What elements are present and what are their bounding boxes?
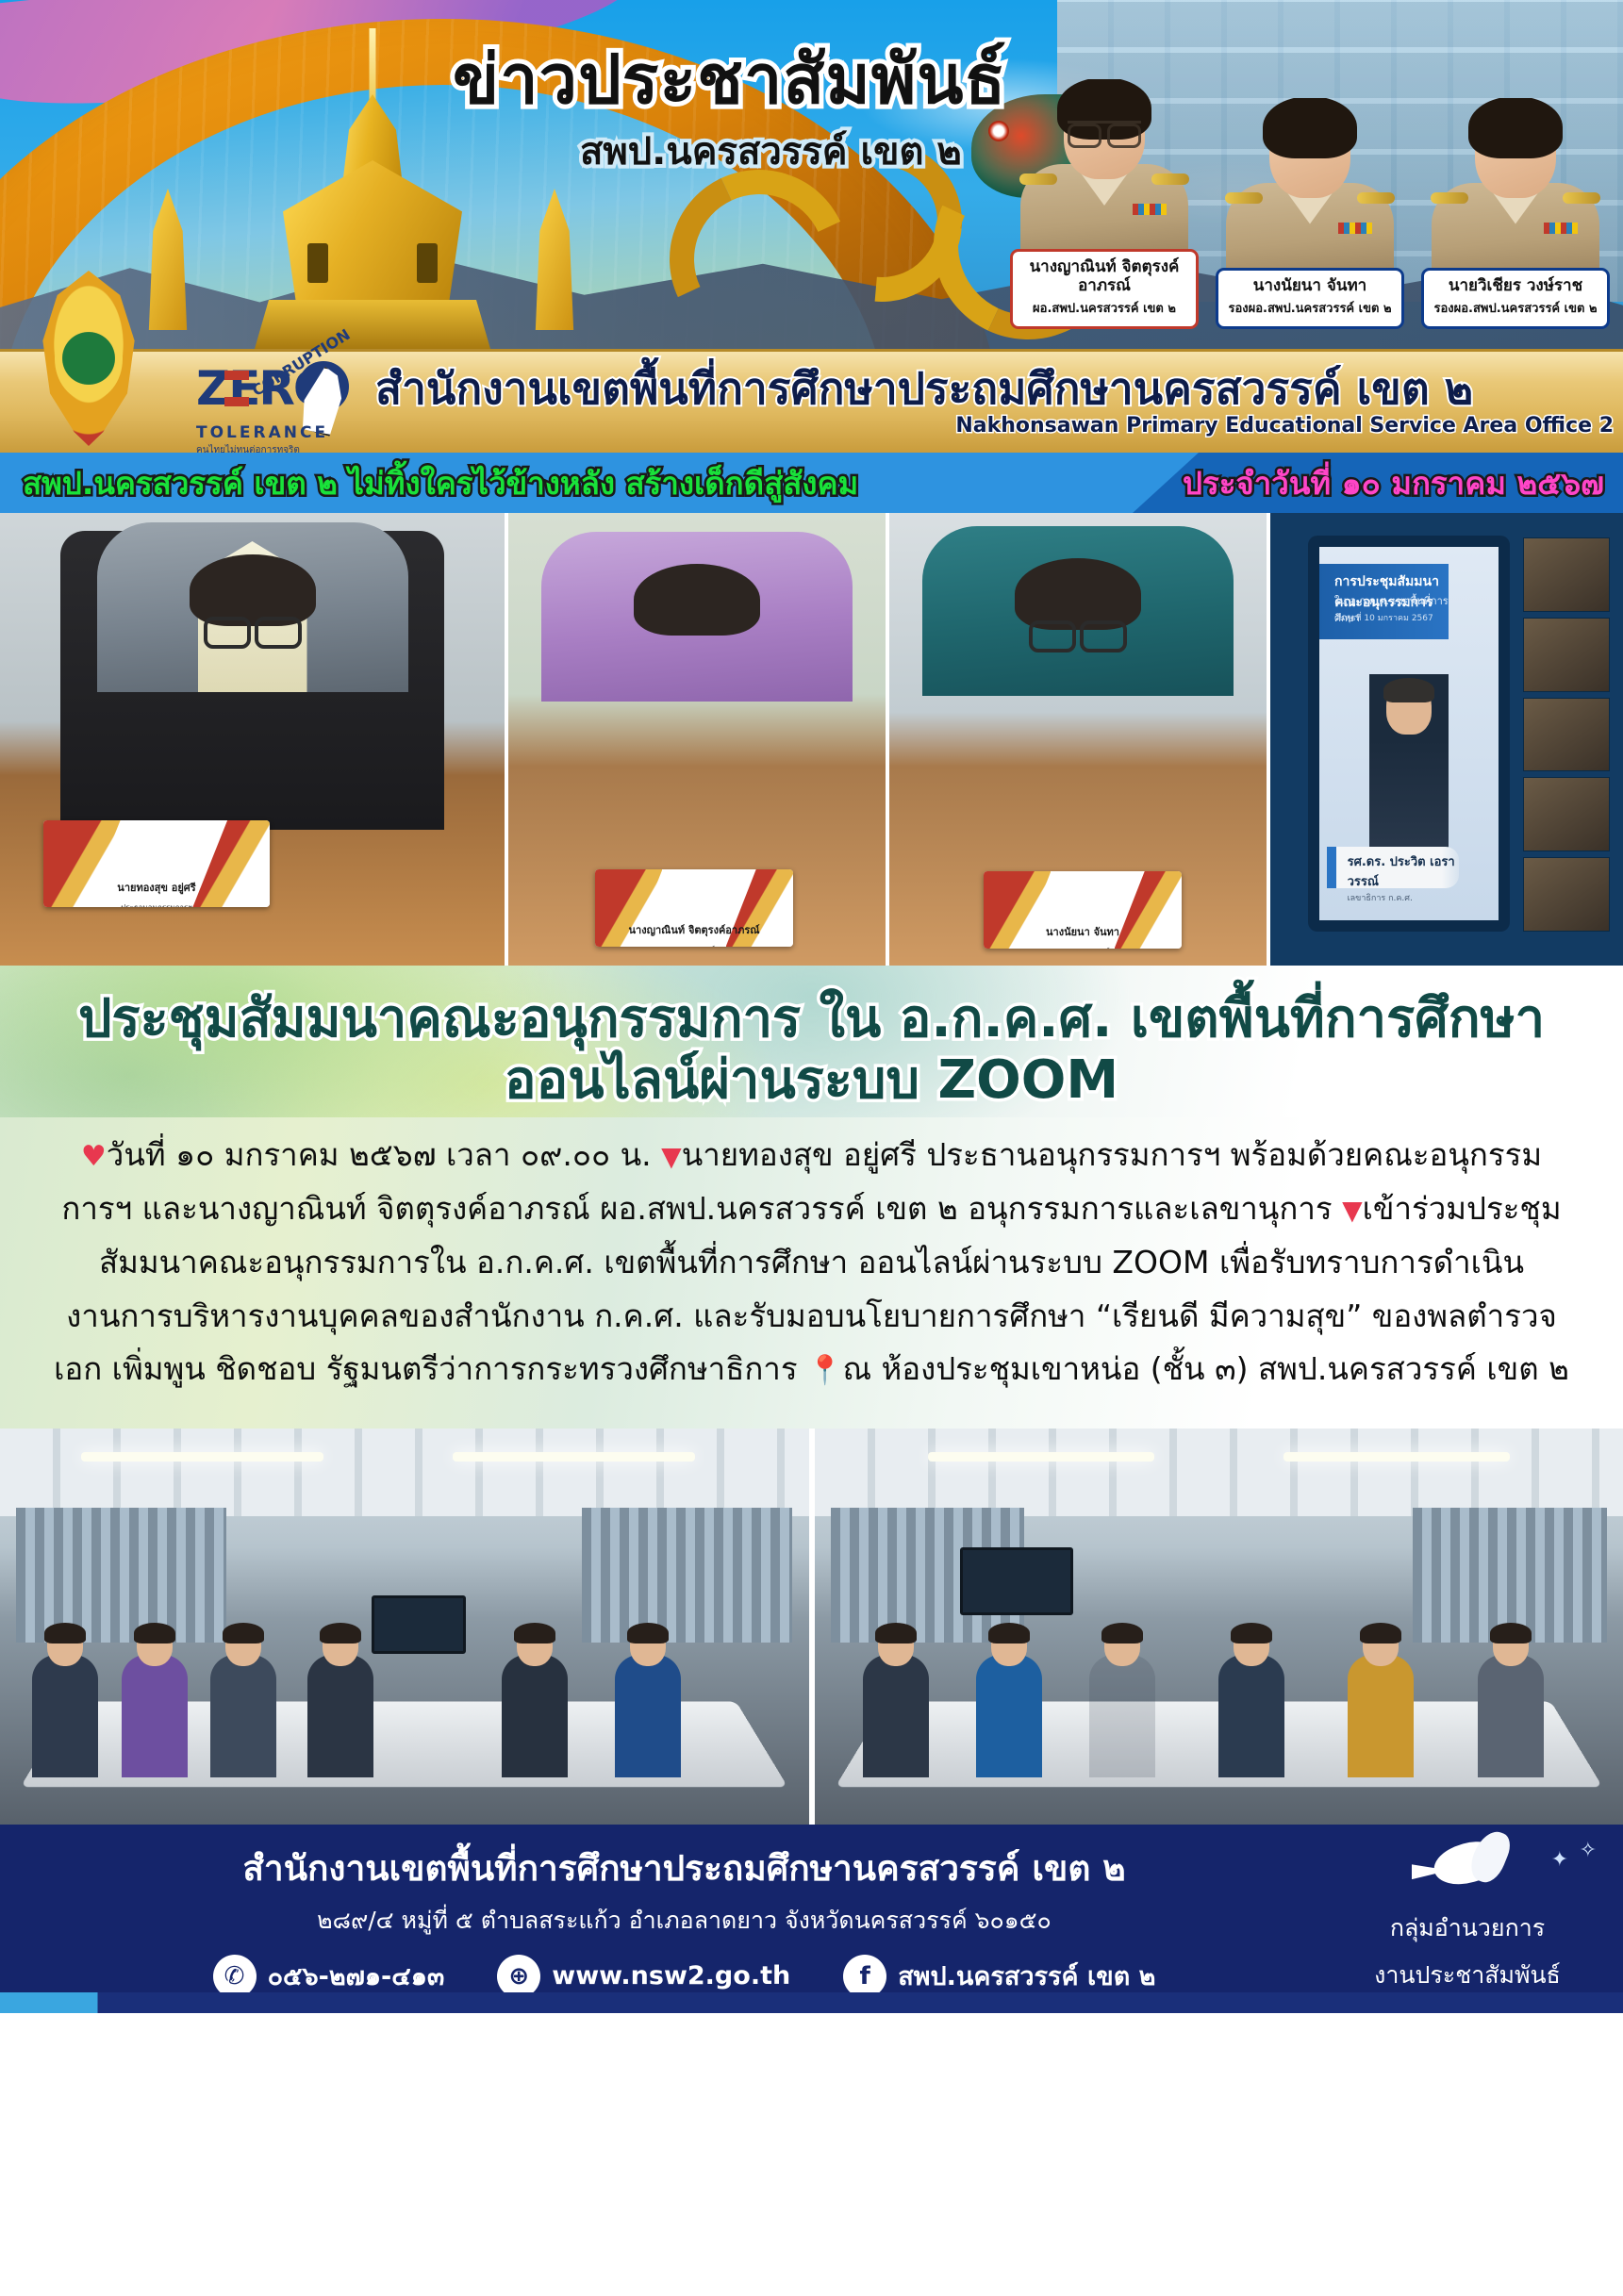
speaker-video-tile [1369,674,1449,868]
triangle-icon: ▼ [661,1134,682,1180]
desk-nameplate-chairman: นายทองสุข อยู่ศรี ประธานอนุกรรมการฯ [43,820,270,907]
attendee-hair [1101,1623,1143,1644]
attendee [307,1655,373,1777]
attendee-hair [514,1623,555,1644]
attendee-hair [134,1623,175,1644]
attendee [615,1655,681,1777]
officer-epaulette-right-2 [1357,192,1395,204]
organization-name-english: Nakhonsawan Primary Educational Service … [375,414,1623,438]
officer-name-1: นางญาณินท์ จิตตุรงค์อาภรณ์ [1018,258,1191,295]
poster-root: ข่าวประชาสัมพันธ์ สพป.นครสวรรค์ เขต ๒ นา… [0,0,1623,2296]
officer-ribbon-3 [1544,223,1578,234]
director-hair [634,564,760,636]
footer: สำนักงานเขตพื้นที่การศึกษาประถมศึกษานครส… [0,1825,1623,2013]
speaker-lower-third: รศ.ดร. ประวิต เอราวรรณ์ เลขาธิการ ก.ค.ศ. [1327,847,1460,888]
location-pin-icon: 📍 [807,1346,842,1396]
thumbnail-2 [1523,618,1610,692]
officer-role-1: ผอ.สพป.นครสวรรค์ เขต ๒ [1018,298,1191,318]
footer-contacts: ✆ ๐๕๖-๒๗๑-๔๑๓ ⊕ www.nsw2.go.th f สพป.นคร… [57,1955,1312,1998]
footer-group-1: กลุ่มอำนวยการ [1312,1909,1623,1947]
officer-epaulette-left-3 [1431,192,1468,204]
officer-hair-2 [1263,98,1357,158]
attendee [1218,1655,1284,1777]
attendee-hair [875,1623,917,1644]
attendee [502,1655,568,1777]
officer-epaulette-right-3 [1563,192,1600,204]
footer-bottom-accent-bar [0,1992,1623,2013]
officer-name-2: นางนัยนา จันทา [1223,277,1397,296]
officer-role-2: รองผอ.สพป.นครสวรรค์ เขต ๒ [1223,298,1397,318]
officer-nameplate-2: นางนัยนา จันทา รองผอ.สพป.นครสวรรค์ เขต ๒ [1216,268,1404,330]
wall-monitor-right [960,1547,1073,1615]
organization-names: สำนักงานเขตพื้นที่การศึกษาประถมศึกษานครส… [375,367,1623,438]
display-screen: การประชุมสัมมนาคณะอนุกรรมการ ใน อ.ก.ค.ศ.… [1308,536,1510,932]
footer-main: สำนักงานเขตพื้นที่การศึกษาประถมศึกษานครส… [0,1841,1312,1998]
slogan-bar: สพป.นครสวรรค์ เขต ๒ ไม่ทิ้งใครไว้ข้างหลั… [0,453,1623,513]
photo-meeting-room-left [0,1429,809,1825]
attendee [1478,1655,1544,1777]
sparkle-icon-1: ✦ [1551,1847,1568,1872]
attendee [1089,1655,1155,1777]
page-subtitle: สพป.นครสวรรค์ เขต ๒ [580,121,962,181]
officer-card-2: นางนัยนา จันทา รองผอ.สพป.นครสวรรค์ เขต ๒ [1216,98,1404,330]
footer-organization: สำนักงานเขตพื้นที่การศึกษาประถมศึกษานครส… [57,1841,1312,1896]
website-url: www.nsw2.go.th [552,1961,790,1990]
headline-line-1: ประชุมสัมมนาคณะอนุกรรมการ ใน อ.ก.ค.ศ. เข… [0,990,1623,1049]
zero-logo-bar-2 [224,397,249,406]
dove-icon: ✦ ✧ [1312,1843,1623,1909]
officer-epaulette-left-2 [1225,192,1263,204]
thumbnail-1 [1523,537,1610,612]
speaker-name: รศ.ดร. ประวิต เอราวรรณ์ [1348,851,1460,891]
desk-nameplate-name: นางนัยนา จันทา [984,923,1182,940]
desk-nameplate-name: นายทองสุข อยู่ศรี [43,879,270,896]
sparkle-icon-2: ✧ [1580,1838,1597,1862]
phone-icon: ✆ [213,1955,257,1998]
slide-header-bar: การประชุมสัมมนาคณะอนุกรรมการ ใน อ.ก.ค.ศ.… [1319,564,1449,639]
ceiling-light-1 [81,1452,323,1462]
officer-hair-3 [1468,98,1563,158]
officer-card-3: นายวิเชียร วงษ์ราช รองผอ.สพป.นครสวรรค์ เ… [1421,98,1610,330]
window-blinds-right [582,1508,792,1643]
photo-thumbnail-strip [1523,537,1610,932]
attendee-hair [1231,1623,1272,1644]
heart-icon: ♥ [81,1132,107,1181]
footer-group-2: งานประชาสัมพันธ์ [1312,1957,1623,1994]
thumbnail-3 [1523,698,1610,772]
attendee [976,1655,1042,1777]
pagoda-body [283,160,462,311]
headline-section: ประชุมสัมมนาคณะอนุกรรมการ ใน อ.ก.ค.ศ. เข… [0,966,1623,1117]
officer-epaulette-right-1 [1151,173,1189,185]
contact-website[interactable]: ⊕ www.nsw2.go.th [497,1955,790,1998]
officer-nameplate-1: นางญาณินท์ จิตตุรงค์อาภรณ์ ผอ.สพป.นครสวร… [1010,249,1199,329]
garuda-emblem-icon [28,271,149,446]
officer-photo-2 [1216,98,1404,277]
desk-nameplate-role: รองผอ.สพป.นครสวรรค์ เขต ๒ [984,946,1182,949]
deputy-figure [1021,564,1134,696]
chairman-hair [190,554,316,626]
garuda-inner [55,316,123,400]
slogan-text: สพป.นครสวรรค์ เขต ๒ ไม่ทิ้งใครไว้ข้างหลั… [23,458,858,508]
article-datetime: วันที่ ๑๐ มกราคม ๒๕๖๗ เวลา ๐๙.๐๐ น. [107,1136,652,1173]
photo-zoom-screen: การประชุมสัมมนาคณะอนุกรรมการ ใน อ.ก.ค.ศ.… [1270,513,1623,966]
attendee-hair [223,1623,264,1644]
officer-ribbon-2 [1338,223,1372,234]
ceiling-left [0,1429,809,1515]
article-body: ♥วันที่ ๑๐ มกราคม ๒๕๖๗ เวลา ๐๙.๐๐ น. ▼นา… [0,1117,1623,1429]
officer-role-3: รองผอ.สพป.นครสวรรค์ เขต ๒ [1429,298,1602,318]
slide-date: วันพุธที่ 10 มกราคม 2567 [1334,611,1433,624]
wall-monitor-left [372,1595,466,1654]
attendee-hair [320,1623,361,1644]
globe-icon: ⊕ [497,1955,540,1998]
attendee [210,1655,276,1777]
photo-strip-bottom [0,1429,1623,1825]
article-paragraph: ♥วันที่ ๑๐ มกราคม ๒๕๖๗ เวลา ๐๙.๐๐ น. ▼นา… [49,1129,1574,1396]
officer-card-1: นางญาณินท์ จิตตุรงค์อาภรณ์ ผอ.สพป.นครสวร… [1010,79,1199,329]
facebook-icon: f [843,1955,886,1998]
photo-strip-top: นายทองสุข อยู่ศรี ประธานอนุกรรมการฯ นางญ… [0,513,1623,966]
glasses-icon [204,617,302,641]
page-title: ข่าวประชาสัมพันธ์ [453,25,1006,133]
attendee-hair [1490,1623,1532,1644]
photo-meeting-room-right [815,1429,1623,1825]
pagoda-base [255,300,490,349]
officer-epaulette-left-1 [1019,173,1057,185]
organization-name-thai: สำนักงานเขตพื้นที่การศึกษาประถมศึกษานครส… [375,367,1623,410]
photo-deputy: นางนัยนา จันทา รองผอ.สพป.นครสวรรค์ เขต ๒ [889,513,1267,966]
desk-nameplate-role: ประธานอนุกรรมการฯ [43,901,270,907]
date-badge: ประจำวันที่ ๑๐ มกราคม ๒๕๖๗ [1183,458,1604,508]
officer-name-3: นายวิเชียร วงษ์ราช [1429,277,1602,296]
phone-number: ๐๕๖-๒๗๑-๔๑๓ [268,1956,445,1996]
officer-nameplate-3: นายวิเชียร วงษ์ราช รองผอ.สพป.นครสวรรค์ เ… [1421,268,1610,330]
desk-nameplate-director: นางญาณินท์ จิตตุรงค์อาภรณ์ ผอ.สพป.นครสวร… [595,869,793,947]
organization-bar: ZERO CORRUPTION TOLERANCE คนไทยไม่ทนต่อก… [0,349,1623,453]
contact-facebook[interactable]: f สพป.นครสวรรค์ เขต ๒ [843,1955,1155,1998]
speaker-hair [1383,678,1434,702]
attendee-hair [627,1623,669,1644]
zero-tolerance-logo: ZERO CORRUPTION TOLERANCE คนไทยไม่ทนต่อก… [196,357,355,448]
director-figure [640,570,754,702]
article-location: ณ ห้องประชุมเขาหน่อ (ชั้น ๓) สพป.นครสวรร… [842,1350,1568,1387]
desk-nameplate-role: ผอ.สพป.นครสวรรค์ เขต ๒ [595,944,793,947]
officer-photo-3 [1421,98,1610,277]
ceiling-right [815,1429,1623,1515]
footer-right: ✦ ✧ กลุ่มอำนวยการ งานประชาสัมพันธ์ [1312,1843,1623,1994]
officer-portrait-group: นางญาณินท์ จิตตุรงค์อาภรณ์ ผอ.สพป.นครสวร… [1010,79,1610,329]
attendee-hair [1360,1623,1401,1644]
headline-line-2: ออนไลน์ผ่านระบบ ZOOM [0,1051,1623,1111]
ceiling-light-3 [928,1452,1154,1462]
ceiling-light-2 [453,1452,695,1462]
chairman-figure [196,560,309,692]
pagoda-window-right [417,243,438,283]
photo-director: นางญาณินท์ จิตตุรงค์อาภรณ์ ผอ.สพป.นครสวร… [508,513,886,966]
deputy-hair [1015,558,1141,630]
contact-phone[interactable]: ✆ ๐๕๖-๒๗๑-๔๑๓ [213,1955,445,1998]
attendee [863,1655,929,1777]
pagoda-window-left [307,243,328,283]
zero-logo-bar-1 [224,371,249,380]
speaker-role: เลขาธิการ ก.ค.ศ. [1348,891,1460,904]
triangle-icon-2: ▼ [1342,1188,1363,1233]
thumbnail-5 [1523,857,1610,932]
thumbnail-4 [1523,777,1610,851]
officer-ribbon-1 [1133,204,1167,215]
window-blinds-left [16,1508,226,1643]
glasses-icon [1068,121,1141,140]
attendee [32,1655,98,1777]
ceiling-light-4 [1283,1452,1510,1462]
attendee-hair [988,1623,1030,1644]
facebook-page: สพป.นครสวรรค์ เขต ๒ [898,1956,1155,1996]
photo-chairman: นายทองสุข อยู่ศรี ประธานอนุกรรมการฯ [0,513,505,966]
officer-photo-1 [1010,79,1199,258]
desk-nameplate-deputy: นางนัยนา จันทา รองผอ.สพป.นครสวรรค์ เขต ๒ [984,871,1182,949]
footer-address: ๒๘๙/๔ หมู่ที่ ๕ ตำบลสระแก้ว อำเภอลาดยาว … [57,1902,1312,1940]
glasses-icon [1029,620,1127,645]
screen-content: การประชุมสัมมนาคณะอนุกรรมการ ใน อ.ก.ค.ศ.… [1319,547,1499,920]
hero-banner: ข่าวประชาสัมพันธ์ สพป.นครสวรรค์ เขต ๒ นา… [0,0,1623,349]
attendee [122,1655,188,1777]
desk-nameplate-name: นางญาณินท์ จิตตุรงค์อาภรณ์ [595,921,793,938]
zero-logo-tolerance-text: TOLERANCE [196,423,328,442]
attendee-hair [44,1623,86,1644]
attendee [1348,1655,1414,1777]
